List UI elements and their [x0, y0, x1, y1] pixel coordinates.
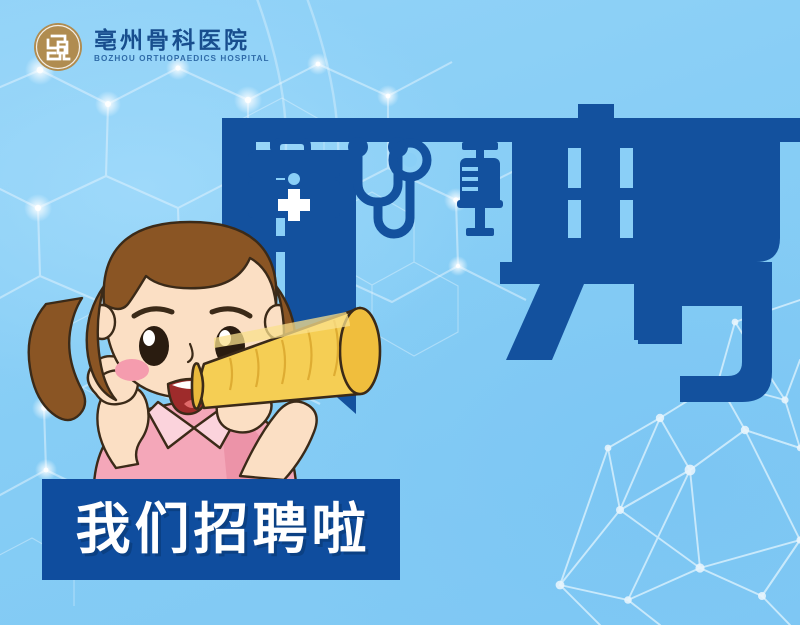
logo-name-cn: 亳州骨科医院: [94, 30, 270, 53]
blush-left: [115, 359, 149, 381]
hiring-banner-text: 我们招聘啦: [71, 502, 370, 557]
logo-name-en: BOZHOU ORTHOPAEDICS HOSPITAL: [94, 55, 270, 63]
syringe-icon: [457, 142, 503, 236]
headline-right-component: [500, 104, 780, 402]
ponytail: [29, 298, 85, 420]
logo-text-block: 亳州骨科医院 BOZHOU ORTHOPAEDICS HOSPITAL: [94, 30, 270, 63]
recruitment-poster: 亳州骨科医院 BOZHOU ORTHOPAEDICS HOSPITAL: [0, 0, 800, 625]
hiring-banner: 我们招聘啦: [42, 479, 400, 580]
hospital-cross-medallion-icon: [33, 22, 83, 72]
hospital-logo: 亳州骨科医院 BOZHOU ORTHOPAEDICS HOSPITAL: [33, 22, 270, 72]
